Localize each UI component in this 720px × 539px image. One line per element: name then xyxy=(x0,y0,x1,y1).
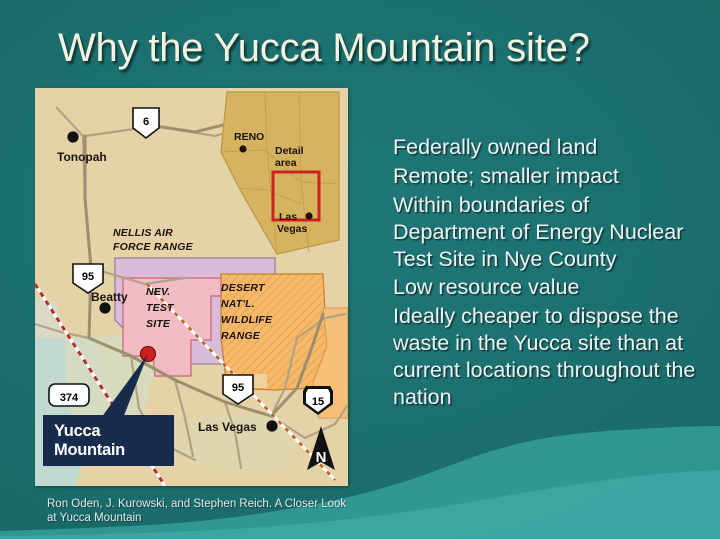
list-item-label: Low resource value xyxy=(393,274,706,301)
diamond-bullet-icon xyxy=(371,163,393,191)
city-dot-lasvegas xyxy=(266,420,277,431)
region-label-nts-line3: SITE xyxy=(146,318,171,330)
page-title: Why the Yucca Mountain site? xyxy=(58,26,698,71)
inset-lasvegas-dot xyxy=(305,212,312,219)
list-item-label: Federally owned land xyxy=(393,134,706,161)
region-label-dnwr-line3: WILDLIFE xyxy=(221,314,273,326)
region-label-nellis-line2: FORCE RANGE xyxy=(113,241,194,253)
diamond-bullet-icon xyxy=(371,134,393,162)
list-item-label: Remote; smaller impact xyxy=(393,163,706,190)
yucca-callout-line2: Mountain xyxy=(54,441,174,460)
diamond-bullet-icon xyxy=(371,274,393,302)
inset-detail-label-line1: Detail xyxy=(275,145,304,157)
diamond-bullet-icon xyxy=(371,192,393,220)
inset-reno-label: RENO xyxy=(234,131,264,143)
city-dot-beatty xyxy=(99,302,110,313)
city-label-tonopah: Tonopah xyxy=(57,150,107,164)
compass-north-label: N xyxy=(316,449,327,466)
inset-lasvegas-label-line2: Vegas xyxy=(277,223,308,235)
city-label-lasvegas: Las Vegas xyxy=(198,420,257,434)
region-label-dnwr-line1: DESERT xyxy=(221,282,266,294)
list-item-label: Ideally cheaper to dispose the waste in … xyxy=(393,303,706,411)
inset-reno-dot xyxy=(239,145,246,152)
highway-shield-374: 374 xyxy=(49,384,89,406)
region-label-nts-line1: NEV. xyxy=(146,286,170,298)
highway-shield-15-number: 15 xyxy=(312,396,324,408)
city-dot-tonopah xyxy=(67,131,78,142)
list-item: Remote; smaller impact xyxy=(371,163,706,191)
highway-shield-374-number: 374 xyxy=(60,392,79,404)
inset-detail-label-line2: area xyxy=(275,157,297,169)
city-label-beatty: Beatty xyxy=(91,290,128,304)
list-item: Within boundaries of Department of Energ… xyxy=(371,192,706,273)
diamond-bullet-icon xyxy=(371,303,393,331)
bullet-list: Federally owned land Remote; smaller imp… xyxy=(371,134,706,412)
region-label-nellis-line1: NELLIS AIR xyxy=(113,227,173,239)
list-item: Federally owned land xyxy=(371,134,706,162)
list-item-label: Within boundaries of Department of Energ… xyxy=(393,192,706,273)
highway-shield-6-number: 6 xyxy=(143,116,149,128)
yucca-callout-line1: Yucca xyxy=(54,422,174,441)
highway-shield-95-south-number: 95 xyxy=(232,382,244,394)
slide-canvas: Why the Yucca Mountain site? Federally o… xyxy=(0,0,720,539)
highway-shield-95-north-number: 95 xyxy=(82,271,94,283)
region-label-dnwr-line4: RANGE xyxy=(221,330,261,342)
list-item: Low resource value xyxy=(371,274,706,302)
map-source-caption: Ron Oden, J. Kurowski, and Stephen Reich… xyxy=(47,497,352,525)
yucca-mountain-callout: Yucca Mountain xyxy=(43,415,174,466)
region-label-dnwr-line2: NAT'L. xyxy=(221,298,255,310)
region-label-nts-line2: TEST xyxy=(146,302,175,314)
inset-lasvegas-label-line1: Las xyxy=(279,211,297,223)
nevada-map-figure: RENO Detail area Las Vegas Tonopah Beatt… xyxy=(35,88,348,486)
list-item: Ideally cheaper to dispose the waste in … xyxy=(371,303,706,411)
